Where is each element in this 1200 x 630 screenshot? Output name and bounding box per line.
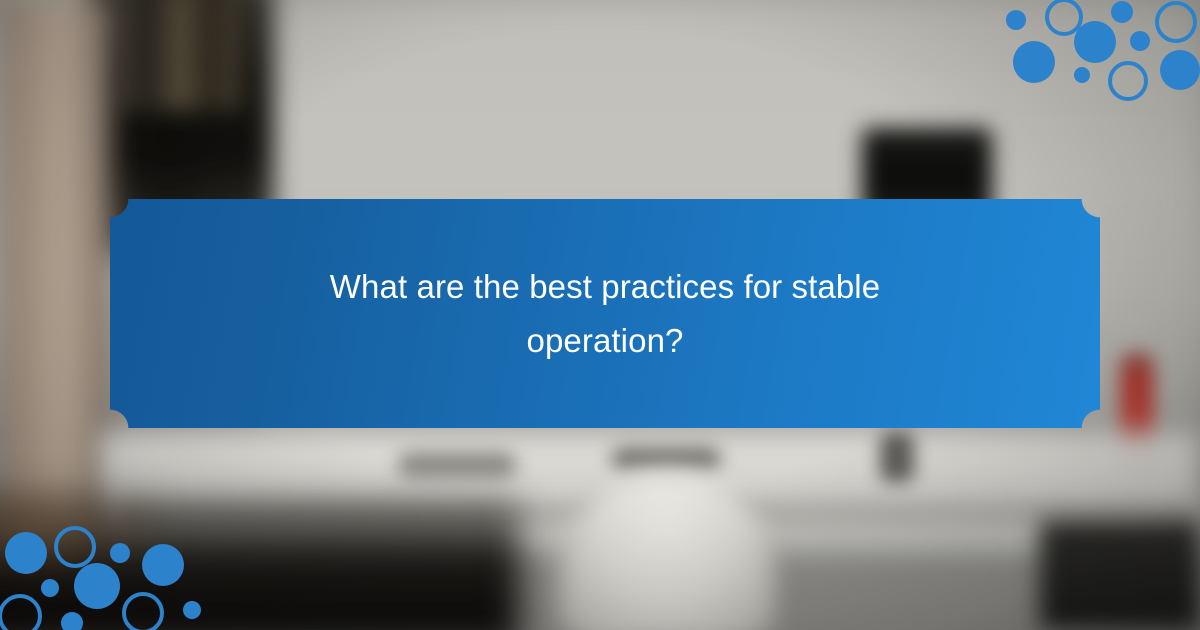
- decorative-dots-bottom-left: [0, 520, 220, 630]
- screenshot-canvas: What are the best practices for stableop…: [0, 0, 1200, 630]
- decorative-dot-filled: [74, 563, 120, 609]
- decorative-dot-filled: [1160, 50, 1200, 90]
- decorative-dot-filled: [1074, 21, 1116, 63]
- question-text: What are the best practices for stableop…: [306, 260, 904, 367]
- decorative-dot-ring: [0, 594, 42, 630]
- decorative-dot-filled: [110, 543, 130, 563]
- decorative-dots-top-right: [990, 0, 1200, 110]
- decorative-dot-filled: [1013, 41, 1055, 83]
- decorative-dot-filled: [1074, 67, 1090, 83]
- decorative-dot-filled: [1111, 1, 1133, 23]
- decorative-dot-filled: [41, 579, 59, 597]
- question-banner: What are the best practices for stableop…: [110, 199, 1100, 428]
- decorative-dot-filled: [1006, 10, 1026, 30]
- decorative-dot-filled: [5, 532, 47, 574]
- decorative-dot-ring: [1155, 1, 1197, 43]
- decorative-dot-ring: [54, 526, 96, 568]
- decorative-dot-filled: [183, 601, 201, 619]
- decorative-dot-ring: [122, 592, 164, 630]
- decorative-dot-filled: [142, 544, 184, 586]
- decorative-dot-ring: [1108, 61, 1148, 101]
- decorative-dot-filled: [61, 612, 83, 630]
- decorative-dot-filled: [1130, 31, 1150, 51]
